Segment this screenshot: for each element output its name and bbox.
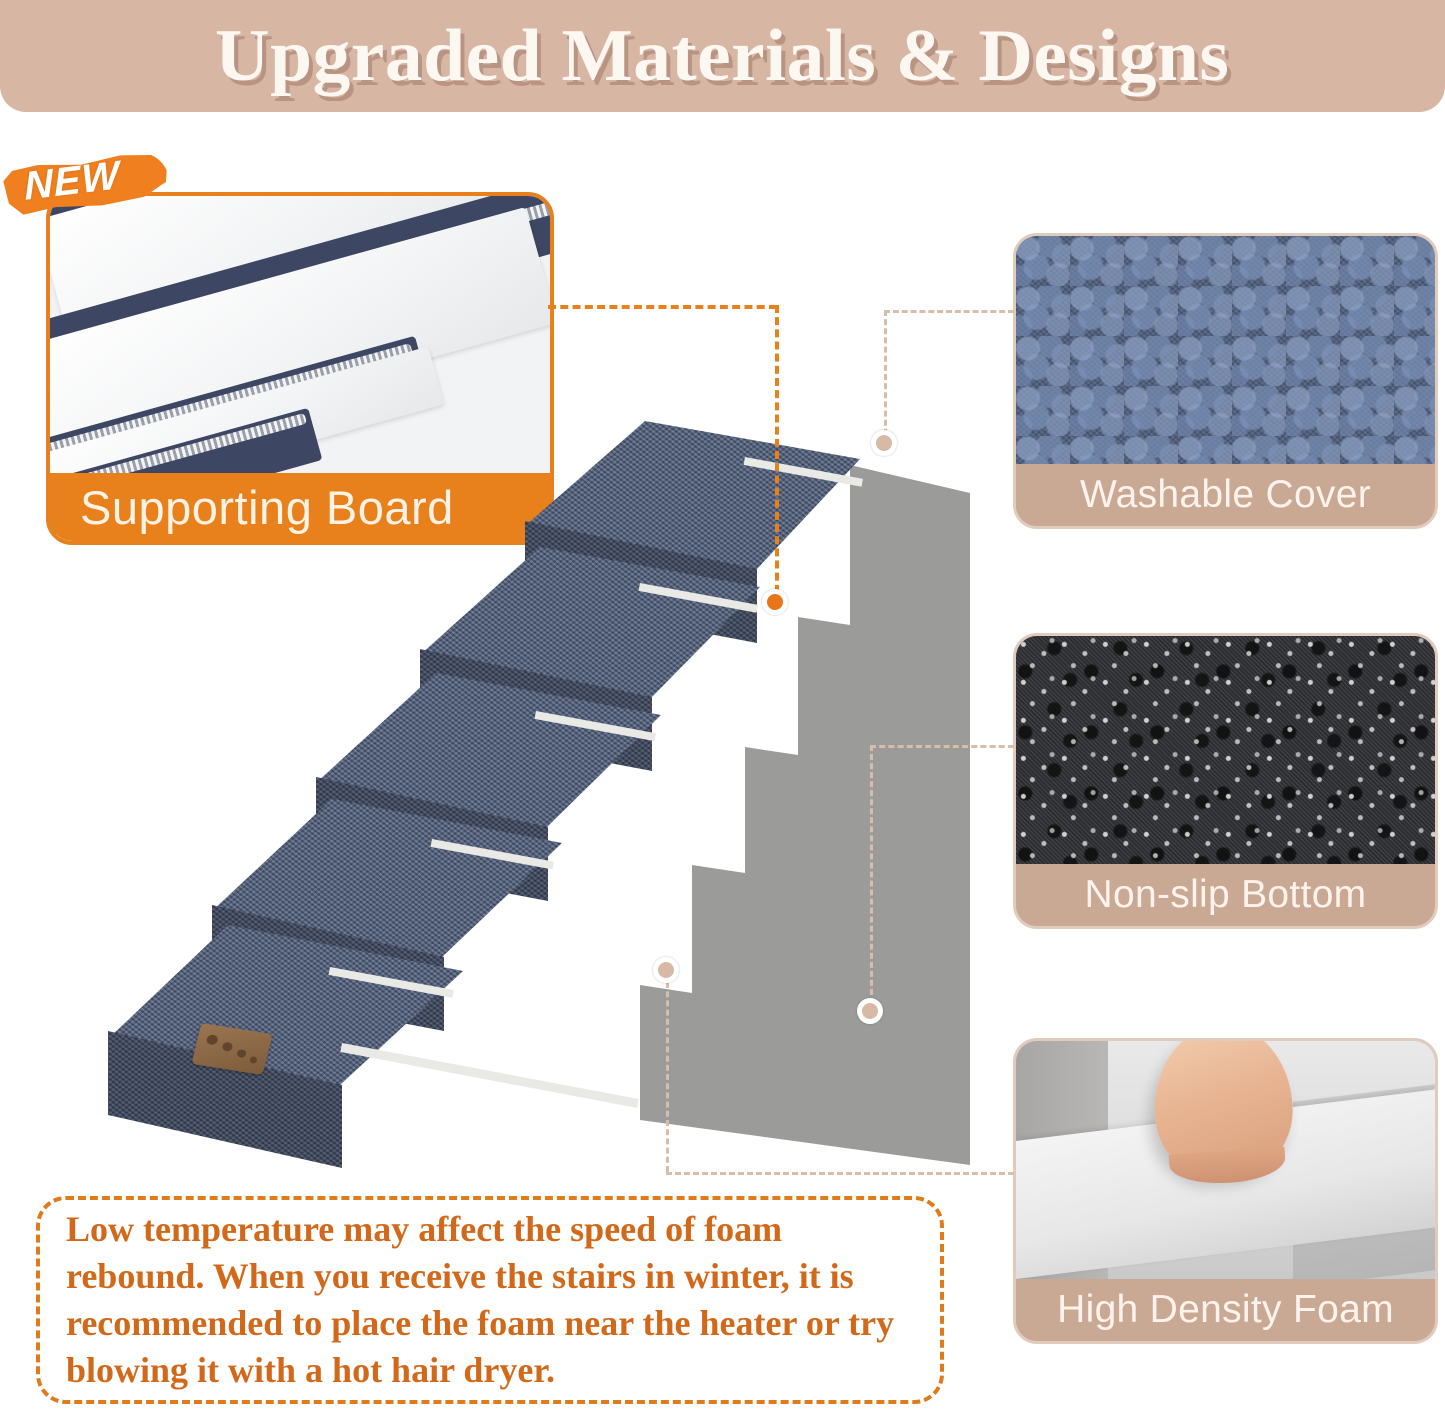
foam-rebound-note-box: Low temperature may affect the speed of … [36,1196,944,1404]
connector-dot-supporting-board [762,589,788,615]
new-badge: NEW [4,152,174,224]
washable-cover-photo [1016,236,1435,464]
feature-panel-non-slip-bottom: Non-slip Bottom [1013,633,1438,929]
connector-dot-high-density-foam [653,957,679,983]
page-title: Upgraded Materials & Designs [215,14,1229,99]
foam-photo-scene [1016,1041,1435,1279]
connector-dot-washable-cover [871,430,897,456]
blue-fabric-texture [1016,236,1435,464]
stairs-base-edge [340,1043,638,1108]
washable-cover-label: Washable Cover [1080,473,1371,517]
nonslip-fabric-texture [1016,636,1435,864]
connector-line-supporting-board-vertical [775,305,779,605]
connector-line-foam-horizontal [666,1172,1014,1175]
feature-panel-washable-cover: Washable Cover [1013,233,1438,529]
high-density-foam-label-bar: High Density Foam [1016,1279,1435,1341]
feature-panel-high-density-foam: High Density Foam [1013,1038,1438,1344]
foam-rebound-note-text: Low temperature may affect the speed of … [66,1206,914,1393]
high-density-foam-label: High Density Foam [1057,1288,1394,1332]
connector-line-non-slip-horizontal [870,745,1014,748]
connector-line-foam-vertical [666,982,669,1172]
hand-pressing-foam [1149,1041,1297,1179]
connector-line-washable-cover-vertical [884,310,887,444]
non-slip-bottom-label-bar: Non-slip Bottom [1016,864,1435,926]
non-slip-bottom-label: Non-slip Bottom [1085,873,1367,917]
high-density-foam-photo [1016,1041,1435,1279]
header-banner: Upgraded Materials & Designs [0,0,1445,112]
washable-cover-label-bar: Washable Cover [1016,464,1435,526]
connector-line-washable-cover-horizontal [884,310,1014,313]
connector-line-non-slip-vertical [870,745,873,1013]
non-slip-bottom-photo [1016,636,1435,864]
connector-dot-non-slip-bottom [857,998,883,1024]
connector-line-supporting-board-horizontal [548,305,777,309]
